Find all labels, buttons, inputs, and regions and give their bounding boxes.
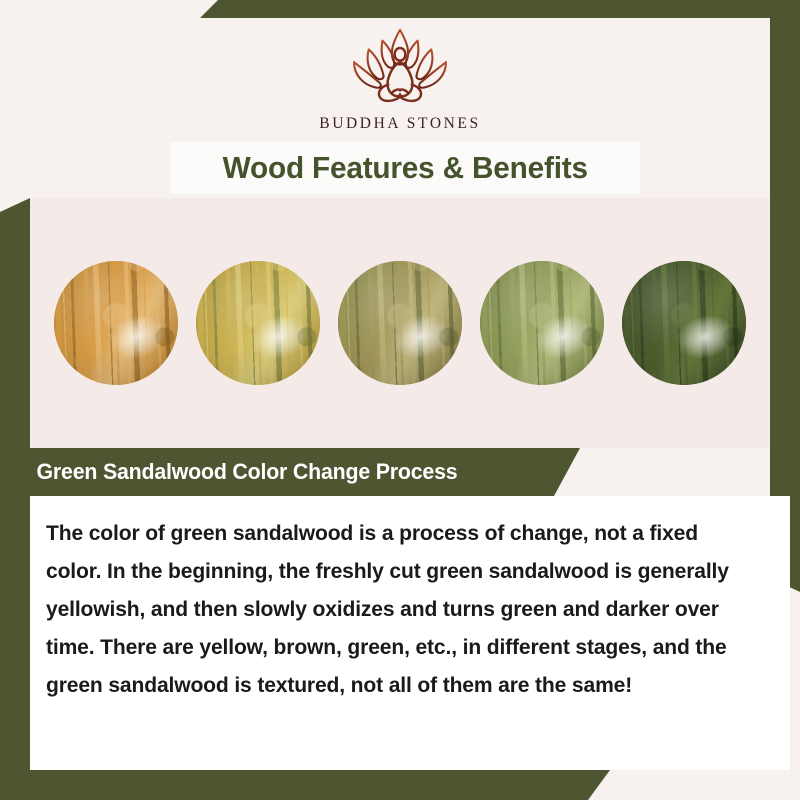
body-card: The color of green sandalwood is a proce… [30, 496, 790, 770]
frame-band-bottom [0, 770, 610, 800]
frame-band-top [200, 0, 800, 18]
lotus-meditation-logo-icon [341, 24, 459, 112]
bead-stage-5 [622, 261, 746, 385]
bead-shading [480, 261, 604, 385]
brand-logo: BUDDHA STONES [30, 24, 770, 133]
poster-root: BUDDHA STONES Wood Features & Benefits [0, 0, 800, 800]
body-paragraph: The color of green sandalwood is a proce… [46, 514, 750, 704]
bead-shading [54, 261, 178, 385]
bead-stage-2 [196, 261, 320, 385]
page-title-plaque: Wood Features & Benefits [170, 142, 640, 194]
bead-showcase-panel [30, 198, 770, 448]
frame-band-left [0, 198, 30, 800]
bead-row [30, 198, 770, 448]
bead-shading [622, 261, 746, 385]
page-title: Wood Features & Benefits [222, 150, 587, 186]
brand-name: BUDDHA STONES [319, 115, 480, 133]
bead-stage-4 [480, 261, 604, 385]
bead-stage-1 [54, 261, 178, 385]
bead-shading [338, 261, 462, 385]
bead-stage-3 [338, 261, 462, 385]
section-banner: Green Sandalwood Color Change Process [0, 448, 580, 496]
bead-shading [196, 261, 320, 385]
body-inner: The color of green sandalwood is a proce… [46, 514, 764, 704]
section-title: Green Sandalwood Color Change Process [37, 459, 458, 485]
